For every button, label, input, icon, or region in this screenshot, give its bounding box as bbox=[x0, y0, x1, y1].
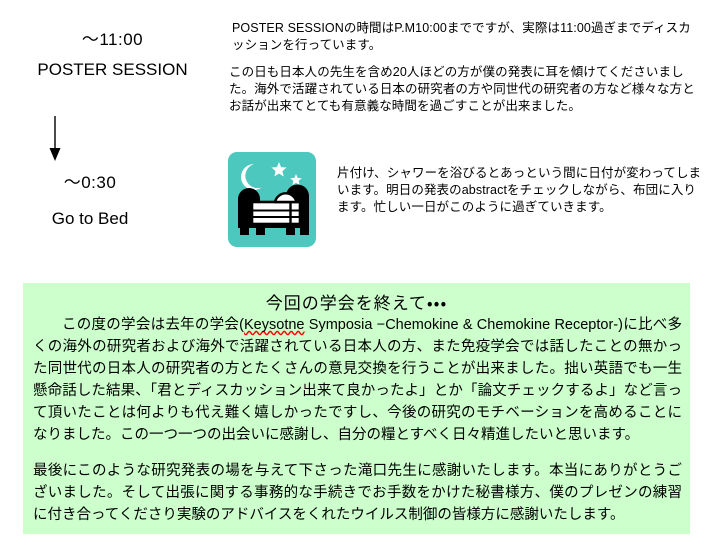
down-arrow-icon bbox=[40, 114, 70, 164]
summary-paragraph-2: 最後にこのような研究発表の場を与えて下さった滝口先生に感謝いたします。本当にあり… bbox=[33, 460, 682, 526]
paragraph-spacer bbox=[33, 446, 682, 460]
summary-paragraph-1-part-1: この度の学会は去年の学会( bbox=[62, 317, 244, 333]
summary-paragraph-1-part-2: Symposia −Chemokine & Chemokine Receptor… bbox=[33, 317, 682, 443]
sleep-bed-icon bbox=[228, 152, 316, 247]
summary-title: 今回の学会を終えて・・・ bbox=[23, 283, 690, 314]
go-to-bed-note: 片付け、シャワーを浴びるとあっという間に日付が変わってしまいます。明日の発表のa… bbox=[337, 165, 705, 216]
poster-session-note-2: この日も日本人の先生を含め20人ほどの方が僕の発表に耳を傾けてくださいました。海… bbox=[229, 64, 707, 115]
summary-paragraph-1: この度の学会は去年の学会(Keysotne Symposia −Chemokin… bbox=[33, 314, 682, 446]
summary-panel: 今回の学会を終えて・・・ この度の学会は去年の学会(Keysotne Sympo… bbox=[23, 283, 690, 534]
spellcheck-misspelled-word: Keysotne bbox=[244, 317, 304, 333]
schedule-time-poster-session: 〜11:00 bbox=[0, 25, 225, 50]
schedule-event-go-to-bed: Go to Bed bbox=[0, 209, 180, 229]
schedule-time-go-to-bed: 〜0:30 bbox=[0, 168, 180, 193]
schedule-event-poster-session: POSTER SESSION bbox=[0, 60, 225, 80]
poster-session-note-1: POSTER SESSIONの時間はP.M10:00までですが、実際は11:00… bbox=[232, 20, 702, 54]
diary-page: 〜11:00 POSTER SESSION 〜0:30 Go to Bed PO… bbox=[0, 0, 710, 550]
summary-body: この度の学会は去年の学会(Keysotne Symposia −Chemokin… bbox=[23, 314, 690, 526]
